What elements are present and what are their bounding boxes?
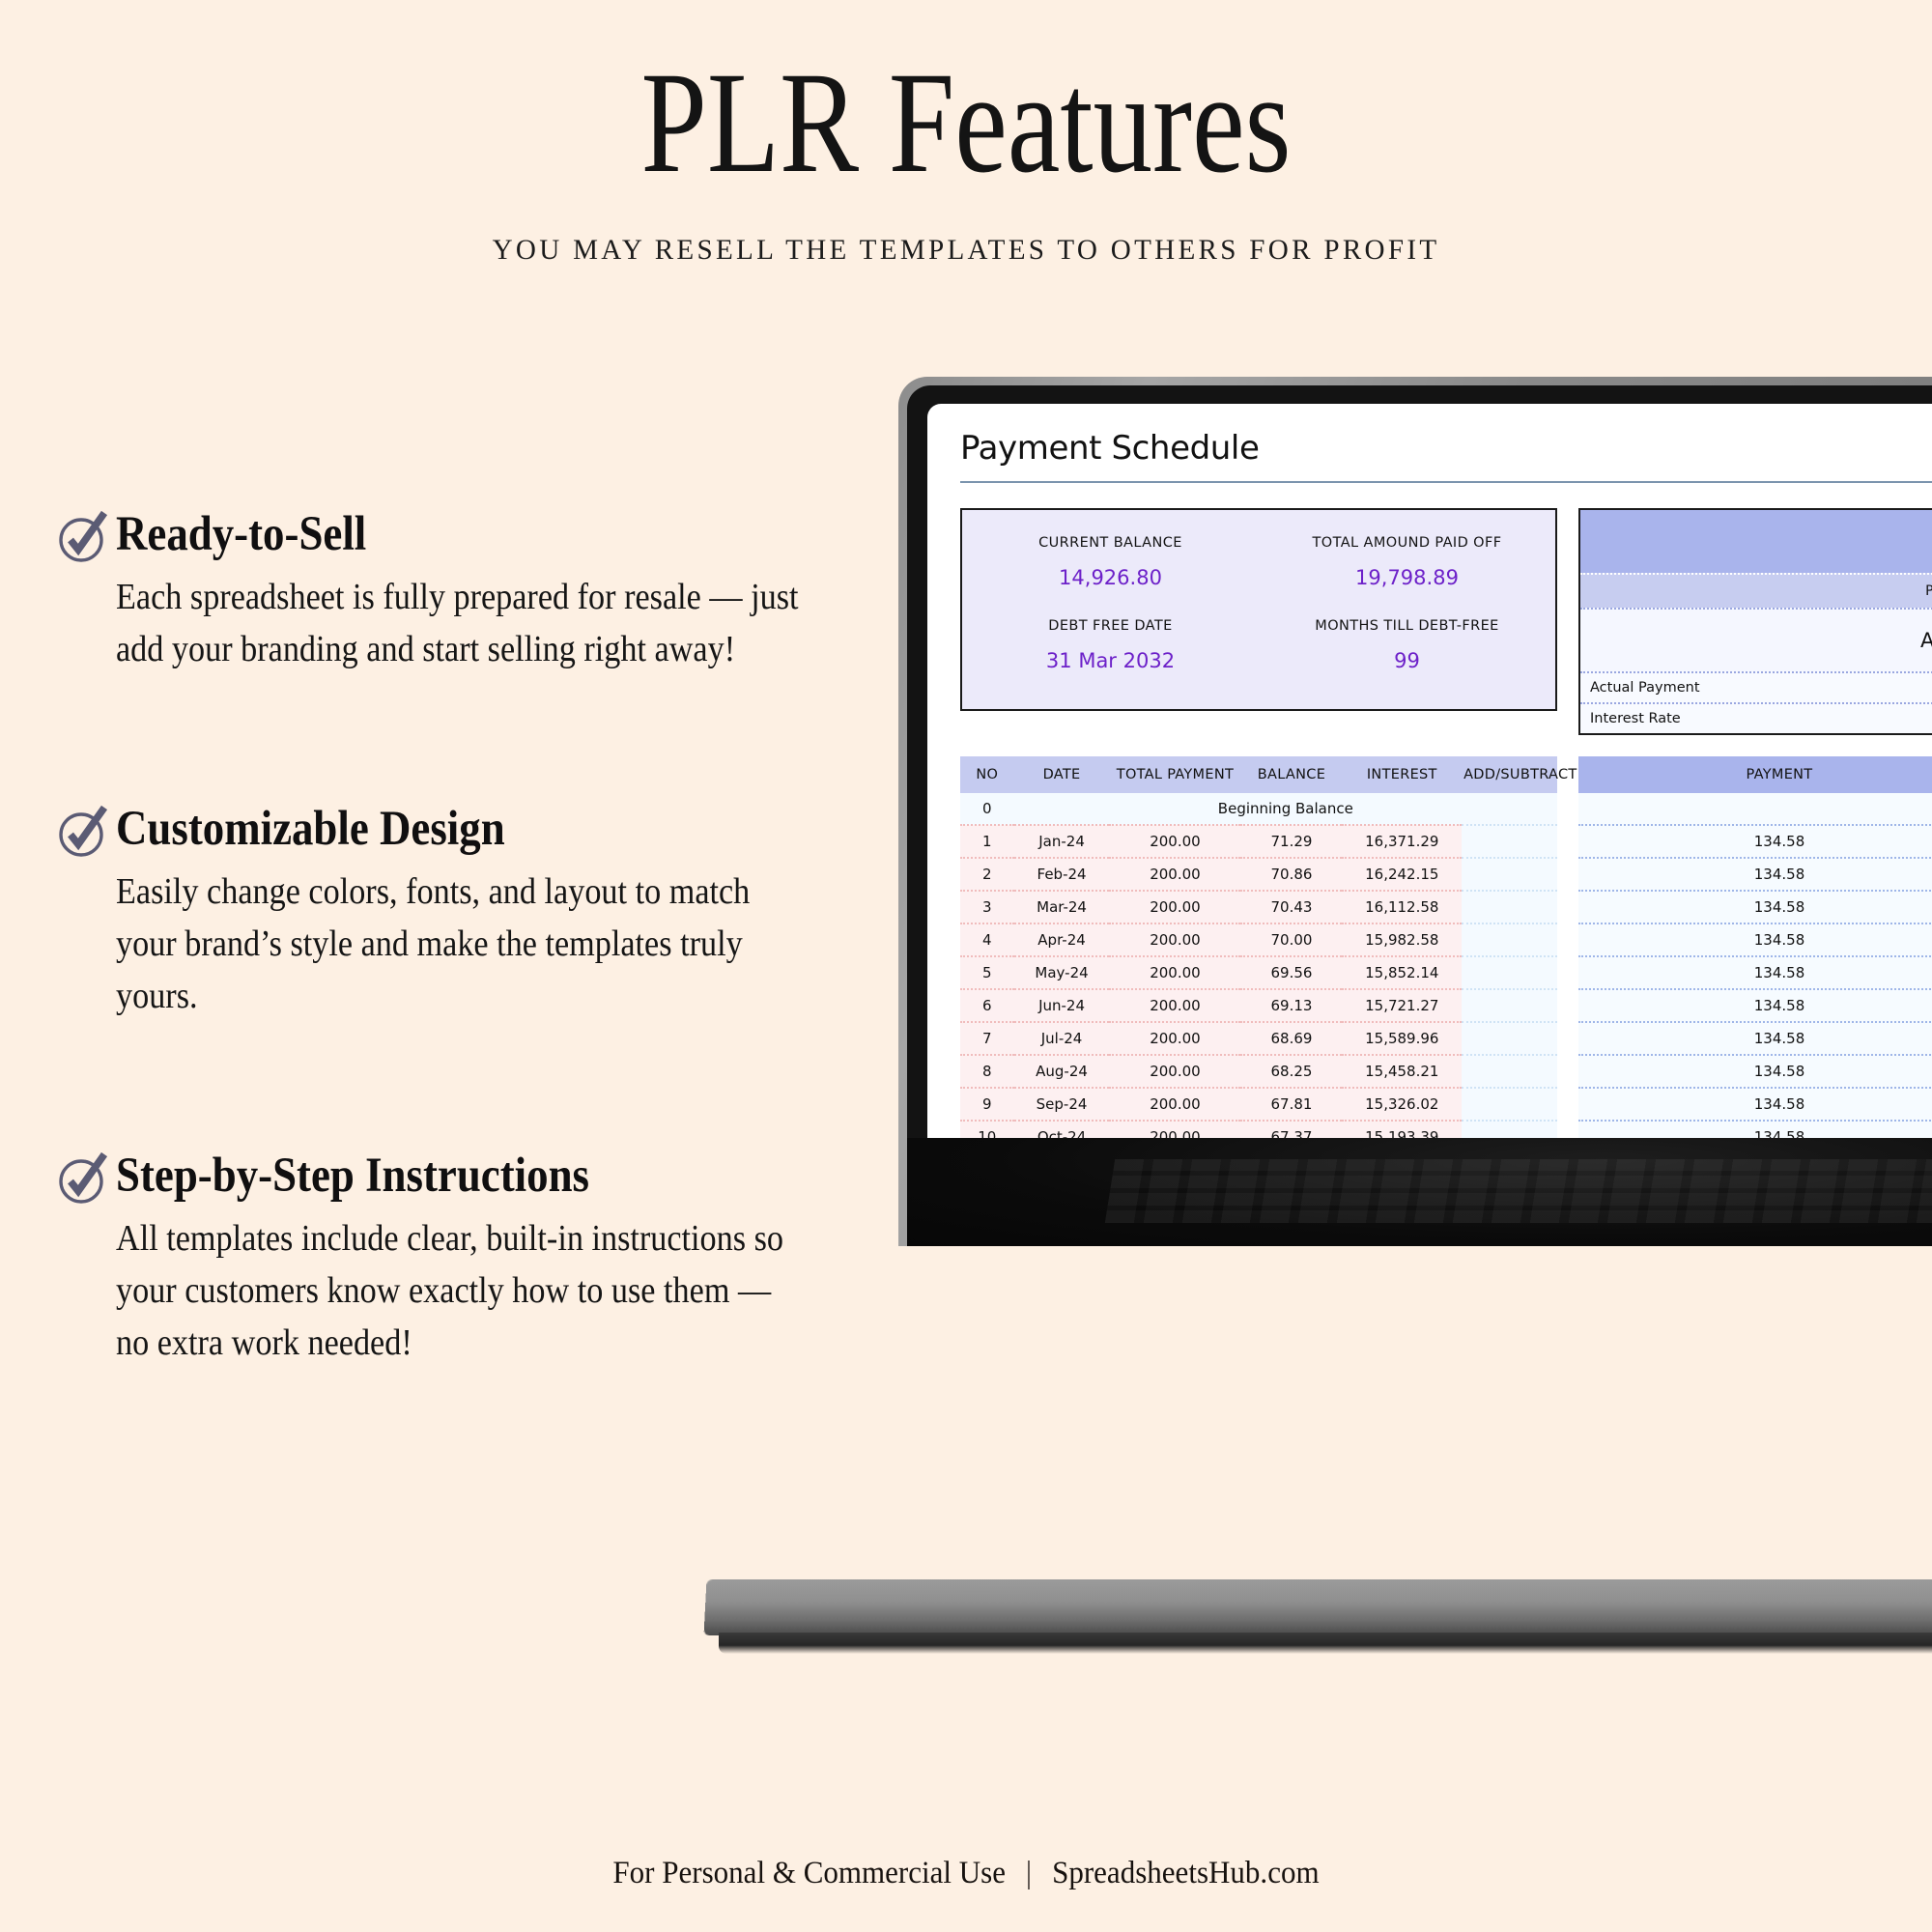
cell-balance: 70.43 [1240, 891, 1342, 923]
cell-no: 6 [960, 989, 1014, 1022]
check-circle-icon [56, 511, 110, 565]
cell-add-subtract [1462, 1055, 1557, 1088]
cell-no: 5 [960, 956, 1014, 989]
cell-no: 4 [960, 923, 1014, 956]
summary-value: 31 Mar 2032 [962, 649, 1259, 672]
cell-date: Jan-24 [1014, 825, 1110, 858]
table-row-beginning-balance: 0Beginning Balance [960, 793, 1557, 825]
col-interest: INTEREST [1342, 756, 1462, 793]
cell-add-subtract [1462, 923, 1557, 956]
cell-interest: 15,721.27 [1342, 989, 1462, 1022]
check-circle-icon [56, 806, 110, 860]
feature-title: Step-by-Step Instructions [116, 1149, 828, 1204]
table-header-row: PAYMENT [1578, 756, 1932, 793]
cell-balance: 71.29 [1240, 825, 1342, 858]
summary-cell-current-balance: CURRENT BALANCE 14,926.80 [962, 535, 1259, 605]
cell-total-payment: 200.00 [1109, 989, 1240, 1022]
cell-date: Jun-24 [1014, 989, 1110, 1022]
payment-schedule-table: NO DATE TOTAL PAYMENT BALANCE INTEREST A… [960, 756, 1557, 1138]
cell-balance: 70.00 [1240, 923, 1342, 956]
cell-no: 9 [960, 1088, 1014, 1121]
table-row: 7Jul-24200.0068.6915,589.96 [960, 1022, 1557, 1055]
feature-body: Step-by-Step Instructions All templates … [56, 1149, 925, 1370]
cell-total-payment: 200.00 [1109, 825, 1240, 858]
page-subtitle: YOU MAY RESELL THE TEMPLATES TO OTHERS F… [29, 234, 1903, 267]
col-total-payment: TOTAL PAYMENT [1109, 756, 1240, 793]
debt-panel-row-interest-rate: Interest Rate [1580, 702, 1932, 733]
cell-interest: 15,852.14 [1342, 956, 1462, 989]
table-body: 0Beginning Balance1Jan-24200.0071.2916,3… [960, 793, 1557, 1138]
cell-date: Apr-24 [1014, 923, 1110, 956]
table-row: 134.58 [1578, 1121, 1932, 1138]
summary-label: CURRENT BALANCE [962, 535, 1259, 551]
cell-date: Aug-24 [1014, 1055, 1110, 1088]
cell-payment: 134.58 [1578, 1022, 1932, 1055]
summary-value: 99 [1259, 649, 1555, 672]
cell-interest: 15,193.39 [1342, 1121, 1462, 1138]
feature-description: Easily change colors, fonts, and layout … [116, 867, 803, 1023]
laptop-screen: Payment Schedule CURRENT BALANCE 14,926.… [927, 404, 1932, 1138]
cell-no: 10 [960, 1121, 1014, 1138]
summary-cell-months-till-debt-free: MONTHS TILL DEBT-FREE 99 [1259, 618, 1555, 688]
feature-title: Ready-to-Sell [116, 507, 828, 562]
cell-payment: 134.58 [1578, 923, 1932, 956]
cell-total-payment: 200.00 [1109, 1088, 1240, 1121]
schedule-table-wrap: NO DATE TOTAL PAYMENT BALANCE INTEREST A… [960, 756, 1557, 1138]
cell-no: 0 [960, 793, 1014, 825]
summary-value: 19,798.89 [1259, 566, 1555, 589]
summary-label: MONTHS TILL DEBT-FREE [1259, 618, 1555, 634]
table-row: 1Jan-24200.0071.2916,371.29 [960, 825, 1557, 858]
cell-total-payment: 200.00 [1109, 1121, 1240, 1138]
summary-card-wrap: CURRENT BALANCE 14,926.80 TOTAL AMOUND P… [960, 508, 1557, 735]
laptop-base [704, 1579, 1932, 1635]
cell-interest: 15,326.02 [1342, 1088, 1462, 1121]
feature-body: Ready-to-Sell Each spreadsheet is fully … [56, 507, 925, 676]
footer-separator: | [1013, 1856, 1045, 1891]
debt-panel-month: April [1580, 608, 1932, 671]
cell-no: 3 [960, 891, 1014, 923]
cell-date: Feb-24 [1014, 858, 1110, 891]
table-row: 6Jun-24200.0069.1315,721.27 [960, 989, 1557, 1022]
cell-add-subtract [1462, 825, 1557, 858]
feature-item: Ready-to-Sell Each spreadsheet is fully … [56, 507, 925, 676]
check-circle-icon [56, 1152, 110, 1207]
cell-payment: 134.58 [1578, 1055, 1932, 1088]
table-row: 3Mar-24200.0070.4316,112.58 [960, 891, 1557, 923]
debt-panel-row-actual-payment: Actual Payment [1580, 671, 1932, 702]
cell-balance: 70.86 [1240, 858, 1342, 891]
cell-payment: 134.58 [1578, 825, 1932, 858]
cell-no: 8 [960, 1055, 1014, 1088]
debt-panel-wrap: De PAYOF April Actual Payment Interest R… [1578, 508, 1932, 735]
spreadsheet-title: Payment Schedule [960, 429, 1932, 468]
cell-payment [1578, 793, 1932, 825]
cell-total-payment: 200.00 [1109, 1022, 1240, 1055]
cell-interest: 15,458.21 [1342, 1055, 1462, 1088]
table-row: 134.58 [1578, 923, 1932, 956]
cell-add-subtract [1462, 956, 1557, 989]
debt-panel-payoff-label: PAYOF [1580, 573, 1932, 608]
summary-row: CURRENT BALANCE 14,926.80 TOTAL AMOUND P… [960, 508, 1932, 735]
table-row: 9Sep-24200.0067.8115,326.02 [960, 1088, 1557, 1121]
table-row: 134.58 [1578, 956, 1932, 989]
summary-value: 14,926.80 [962, 566, 1259, 589]
payment-column-table: PAYMENT 134.58134.58134.58134.58134.5813… [1578, 756, 1932, 1138]
table-row: 5May-24200.0069.5615,852.14 [960, 956, 1557, 989]
keyboard-keys [1105, 1159, 1932, 1223]
footer-left-text: For Personal & Commercial Use [612, 1856, 1006, 1890]
cell-balance: 68.25 [1240, 1055, 1342, 1088]
cell-interest: 16,242.15 [1342, 858, 1462, 891]
cell-payment: 134.58 [1578, 858, 1932, 891]
feature-description: All templates include clear, built-in in… [116, 1213, 803, 1370]
debt-panel: De PAYOF April Actual Payment Interest R… [1578, 508, 1932, 735]
table-row: 134.58 [1578, 1022, 1932, 1055]
cell-no: 2 [960, 858, 1014, 891]
summary-label: DEBT FREE DATE [962, 618, 1259, 634]
footer-site: SpreadsheetsHub.com [1052, 1856, 1320, 1890]
page-title: PLR Features [174, 50, 1758, 195]
cell-interest: 16,112.58 [1342, 891, 1462, 923]
cell-total-payment: 200.00 [1109, 1055, 1240, 1088]
cell-total-payment: 200.00 [1109, 858, 1240, 891]
cell-date: May-24 [1014, 956, 1110, 989]
cell-payment: 134.58 [1578, 1121, 1932, 1138]
cell-balance: 67.37 [1240, 1121, 1342, 1138]
cell-balance: 69.56 [1240, 956, 1342, 989]
table-row: 134.58 [1578, 825, 1932, 858]
col-date: DATE [1014, 756, 1110, 793]
payment-column-wrap: PAYMENT 134.58134.58134.58134.58134.5813… [1578, 756, 1932, 1138]
table-header-row: NO DATE TOTAL PAYMENT BALANCE INTEREST A… [960, 756, 1557, 793]
cell-add-subtract [1462, 1121, 1557, 1138]
cell-date: Oct-24 [1014, 1121, 1110, 1138]
cell-add-subtract [1462, 1022, 1557, 1055]
cell-balance: 67.81 [1240, 1088, 1342, 1121]
cell-interest: 15,982.58 [1342, 923, 1462, 956]
cell-date: Sep-24 [1014, 1088, 1110, 1121]
table-row: 134.58 [1578, 1055, 1932, 1088]
feature-title: Customizable Design [116, 802, 828, 857]
cell-balance: 69.13 [1240, 989, 1342, 1022]
laptop-base-shadow [719, 1633, 1932, 1654]
cell-interest: 16,371.29 [1342, 825, 1462, 858]
table-row: 2Feb-24200.0070.8616,242.15 [960, 858, 1557, 891]
table-body: 134.58134.58134.58134.58134.58134.58134.… [1578, 793, 1932, 1138]
summary-card: CURRENT BALANCE 14,926.80 TOTAL AMOUND P… [960, 508, 1557, 711]
col-balance: BALANCE [1240, 756, 1342, 793]
summary-label: TOTAL AMOUND PAID OFF [1259, 535, 1555, 551]
cell-payment: 134.58 [1578, 1088, 1932, 1121]
cell-add-subtract [1462, 891, 1557, 923]
table-row: 134.58 [1578, 989, 1932, 1022]
page-footer: For Personal & Commercial Use | Spreadsh… [58, 1856, 1874, 1891]
feature-item: Customizable Design Easily change colors… [56, 802, 925, 1023]
cell-date: Mar-24 [1014, 891, 1110, 923]
cell-interest: 15,589.96 [1342, 1022, 1462, 1055]
cell-date: Jul-24 [1014, 1022, 1110, 1055]
cell-add-subtract [1462, 1088, 1557, 1121]
cell-no: 1 [960, 825, 1014, 858]
laptop-mockup: Payment Schedule CURRENT BALANCE 14,926.… [898, 377, 1932, 1246]
laptop-keyboard-deck [907, 1138, 1932, 1246]
schedule-tables: NO DATE TOTAL PAYMENT BALANCE INTEREST A… [960, 756, 1932, 1138]
table-row: 8Aug-24200.0068.2515,458.21 [960, 1055, 1557, 1088]
col-add-subtract: ADD/SUBTRACT [1462, 756, 1557, 793]
cell-payment: 134.58 [1578, 891, 1932, 923]
spreadsheet-app: Payment Schedule CURRENT BALANCE 14,926.… [927, 404, 1932, 1138]
summary-cell-total-paid-off: TOTAL AMOUND PAID OFF 19,798.89 [1259, 535, 1555, 605]
table-row: 134.58 [1578, 858, 1932, 891]
page-header: PLR Features YOU MAY RESELL THE TEMPLATE… [0, 0, 1932, 267]
cell-balance: 68.69 [1240, 1022, 1342, 1055]
table-row-beginning-balance [1578, 793, 1932, 825]
feature-list: Ready-to-Sell Each spreadsheet is fully … [56, 507, 925, 1370]
cell-total-payment: 200.00 [1109, 891, 1240, 923]
feature-item: Step-by-Step Instructions All templates … [56, 1149, 925, 1370]
cell-total-payment: 200.00 [1109, 923, 1240, 956]
col-no: NO [960, 756, 1014, 793]
table-row: 4Apr-24200.0070.0015,982.58 [960, 923, 1557, 956]
cell-add-subtract [1462, 858, 1557, 891]
table-row: 134.58 [1578, 1088, 1932, 1121]
cell-add-subtract [1462, 989, 1557, 1022]
table-row: 10Oct-24200.0067.3715,193.39 [960, 1121, 1557, 1138]
table-row: 134.58 [1578, 891, 1932, 923]
cell-payment: 134.58 [1578, 989, 1932, 1022]
cell-total-payment: 200.00 [1109, 956, 1240, 989]
col-payment: PAYMENT [1578, 756, 1932, 793]
cell-payment: 134.58 [1578, 956, 1932, 989]
feature-description: Each spreadsheet is fully prepared for r… [116, 572, 803, 676]
summary-cell-debt-free-date: DEBT FREE DATE 31 Mar 2032 [962, 618, 1259, 688]
title-divider [960, 481, 1932, 483]
feature-body: Customizable Design Easily change colors… [56, 802, 925, 1023]
cell-no: 7 [960, 1022, 1014, 1055]
debt-panel-title: De [1580, 510, 1932, 573]
cell-beginning-balance: Beginning Balance [1014, 793, 1557, 825]
